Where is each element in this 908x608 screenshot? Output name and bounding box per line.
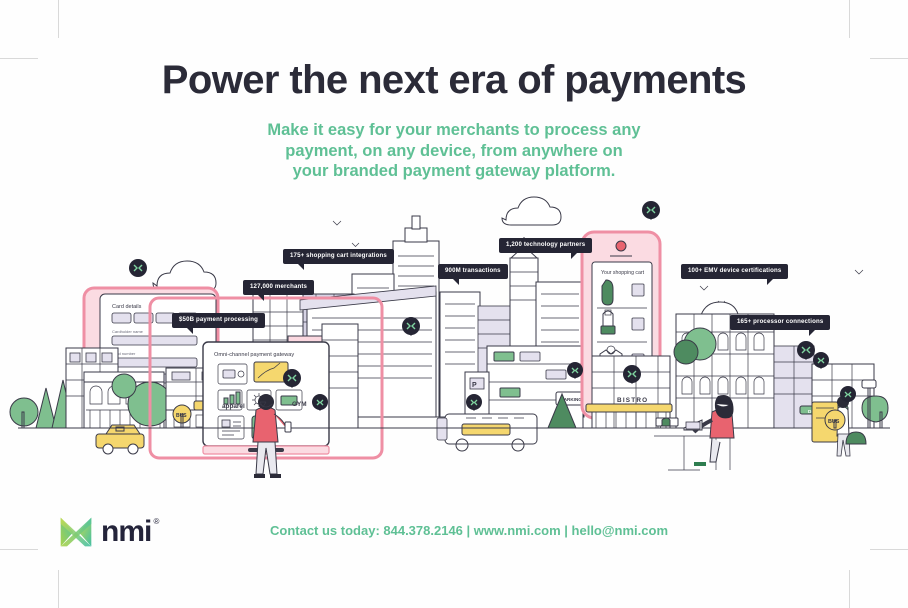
poster-canvas: Power the next era of payments Make it e… [0,0,908,608]
city-bus [437,414,537,451]
apparel-sign-label: apparel [222,403,245,410]
contact-line: Contact us today: 844.378.2146 | www.nmi… [0,523,908,538]
subtitle-line-3: your branded payment gateway platform. [0,161,908,182]
cloud-top [502,197,561,225]
cart-title: Your shopping cart [601,270,645,276]
footer: nmi® Contact us today: 844.378.2146 | ww… [0,514,908,562]
callout-cart-integrations: 175+ shopping cart integrations [283,249,394,264]
svg-text:P: P [472,382,477,389]
gym-sign-label: GYM [292,401,307,408]
callout-payment-processing: $50B payment processing [172,313,265,328]
bus-sign-right: BUS [825,410,845,430]
callout-merchants: 127,000 merchants [243,280,314,295]
callout-processor-connections: 165+ processor connections [730,315,830,330]
city-illustration: .ln{fill:none;stroke:#3a3a48;stroke-widt… [0,196,908,486]
taxi [96,425,144,454]
tablet-title: Omni-channel payment gateway [214,352,294,358]
card-form-title: Card details [112,304,142,310]
callout-technology-partners: 1,200 technology partners [499,238,592,253]
subtitle-line-1: Make it easy for your merchants to proce… [0,120,908,141]
page-subtitle: Make it easy for your merchants to proce… [0,120,908,182]
bistro-sign-label: BISTRO [617,397,648,404]
subtitle-line-2: payment, on any device, from anywhere on [0,141,908,162]
page-title: Power the next era of payments [0,58,908,103]
callout-transactions: 900M transactions [438,264,508,279]
callout-emv-certifications: 100+ EMV device certifications [681,264,788,279]
svg-text:Cardholder name: Cardholder name [112,329,144,334]
